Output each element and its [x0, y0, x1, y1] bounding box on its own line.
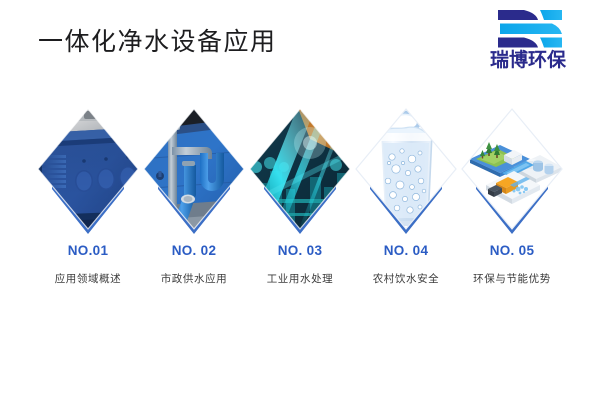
card-number-3: NO. 03	[244, 243, 356, 258]
card-label-5: 环保与节能优势	[446, 271, 578, 286]
card-image-5	[456, 103, 568, 245]
card-no-05[interactable]: NO. 05 环保与节能优势	[456, 103, 568, 303]
logo-mark-icon	[488, 9, 568, 49]
card-visual-3	[244, 103, 356, 245]
card-visual-5	[456, 103, 568, 245]
card-image-1	[32, 103, 144, 245]
company-logo: 瑞博环保	[472, 9, 584, 81]
card-visual-2	[138, 103, 250, 245]
page-title: 一体化净水设备应用	[38, 27, 277, 58]
slide-canvas: 一体化净水设备应用 瑞博环保	[0, 0, 600, 400]
logo-company-name: 瑞博环保	[472, 51, 584, 70]
card-number-1: NO.01	[32, 243, 144, 258]
card-image-2	[138, 103, 250, 245]
application-cards-row: NO.01 应用领域概述	[0, 103, 600, 303]
card-image-3	[244, 103, 356, 245]
card-image-4	[350, 103, 462, 245]
card-number-2: NO. 02	[138, 243, 250, 258]
card-visual-1	[32, 103, 144, 245]
card-visual-4	[350, 103, 462, 245]
card-number-5: NO. 05	[456, 243, 568, 258]
card-number-4: NO. 04	[350, 243, 462, 258]
